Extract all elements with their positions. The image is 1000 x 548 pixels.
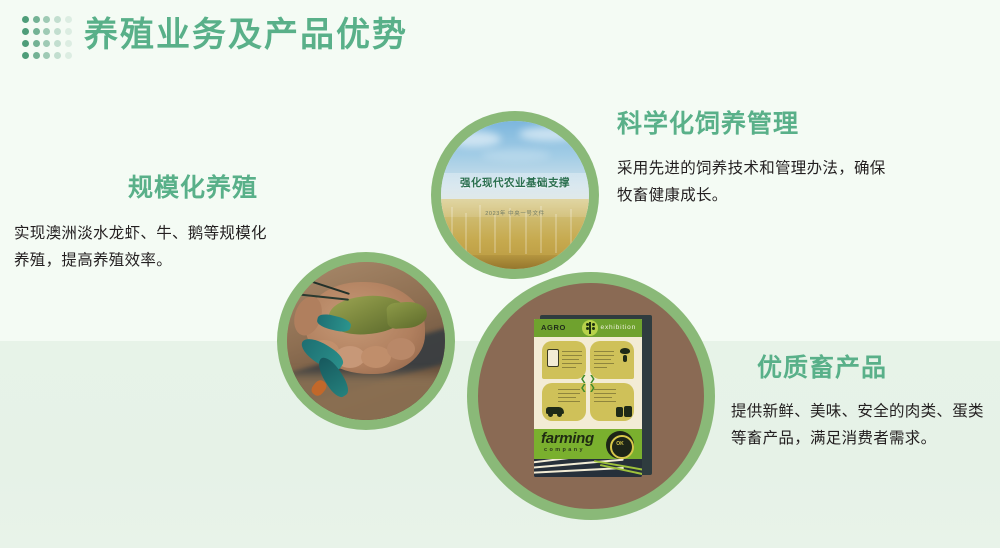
wheat-field-sky-photo: 强化现代农业基础支撑 2023年 中央一号文件 — [441, 121, 589, 269]
poster-quadrant — [590, 341, 634, 379]
slide-canvas: 养殖业务及产品优势 强化现代农业基础支撑 2023年 中央一号文件 — [0, 0, 1000, 548]
cloud-shape — [481, 149, 551, 161]
center-arrow-icons: ❮ ❯ ❮ ❯ — [580, 375, 596, 391]
poster-exhibition-label: exhibition — [601, 324, 636, 331]
wheat-emblem-icon — [582, 320, 598, 336]
poster-logo-sub: company — [544, 447, 585, 453]
poster-agro-label: AGRO — [541, 323, 566, 332]
dot-grid-decoration — [21, 14, 73, 60]
seal-label: OK — [606, 441, 634, 447]
cloud-shape — [519, 127, 581, 141]
poster-logo-main: farming — [541, 431, 594, 446]
cloud-shape — [447, 131, 501, 147]
agro-farming-brochure-photo: AGRO exhibition — [478, 283, 704, 509]
poster-seal-badge: OK — [606, 431, 634, 459]
section-body-quality-products: 提供新鲜、美味、安全的肉类、蛋类等畜产品，满足消费者需求。 — [731, 398, 993, 452]
agro-poster: AGRO exhibition — [534, 319, 642, 477]
section-title-scale-farming: 规模化养殖 — [128, 172, 258, 204]
wheat-subcaption: 2023年 中央一号文件 — [441, 209, 589, 217]
section-title-quality-products: 优质畜产品 — [757, 352, 887, 384]
poster-quadrant — [590, 383, 634, 421]
section-body-scientific-management: 采用先进的饲养技术和管理办法，确保牧畜健康成长。 — [617, 155, 887, 209]
poster-field-road — [534, 459, 642, 477]
poster-content-area: ❮ ❯ ❮ ❯ — [534, 337, 642, 429]
section-body-scale-farming: 实现澳洲淡水龙虾、牛、鹅等规模化养殖，提高养殖效率。 — [14, 220, 274, 274]
hand-holding-crayfish-photo — [287, 262, 445, 420]
page-title: 养殖业务及产品优势 — [84, 12, 408, 58]
wheat-caption: 强化现代农业基础支撑 — [441, 175, 589, 190]
section-title-scientific-management: 科学化饲养管理 — [617, 108, 799, 140]
